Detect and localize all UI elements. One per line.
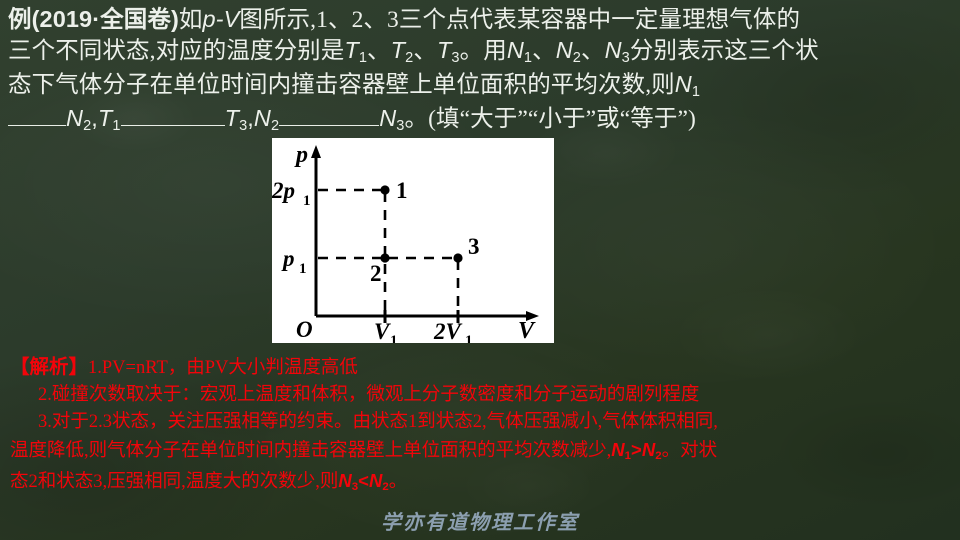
y-tick-label-p1: p 1 bbox=[281, 246, 307, 277]
symbol-N2-c-sub: 2 bbox=[83, 118, 91, 134]
x-tick-label-V1: V 1 bbox=[374, 319, 398, 343]
answer-blank-1[interactable] bbox=[8, 125, 66, 126]
analysis-line-2: 2.碰撞次数取决于：宏观上温度和体积，微观上分子数密度和分子运动的剧列程度 bbox=[10, 382, 956, 409]
axes bbox=[311, 145, 539, 321]
question-l1-pv: p-V bbox=[202, 6, 239, 32]
question-line-2: 三个不同状态,对应的温度分别是T1、T2、T3。用N1、N2、N3分别表示这三个… bbox=[8, 35, 952, 69]
question-l4-tail: 。(填“大于”“小于”或“等于”) bbox=[404, 106, 695, 132]
symbol-T1-sub: 1 bbox=[359, 50, 367, 66]
question-line-1: 例(2019·全国卷)如p-V图所示,1、2、3三个点代表某容器中一定量理想气体… bbox=[8, 4, 952, 35]
symbol-N1: N bbox=[507, 37, 524, 63]
analysis-l5-b: 。 bbox=[389, 472, 408, 492]
analysis-l3: 3.对于2.3状态，关注压强相等的约束。由状态1到状态2,气体压强减小,气体体积… bbox=[38, 412, 718, 432]
question-block: 例(2019·全国卷)如p-V图所示,1、2、3三个点代表某容器中一定量理想气体… bbox=[8, 4, 952, 137]
data-point-2 bbox=[380, 253, 389, 262]
data-point-3 bbox=[453, 253, 462, 262]
analysis-symbol-N2-sub: 2 bbox=[655, 450, 661, 462]
sep-1: 、 bbox=[367, 38, 391, 64]
analysis-l1: 1.PV=nRT，由PV大小判温度高低 bbox=[88, 358, 358, 378]
symbol-N3-b: N bbox=[379, 105, 396, 131]
question-l1-b: 图所示,1、2、3三个点代表某容器中一定量理想气体的 bbox=[239, 7, 800, 33]
analysis-l5-a: 态2和状态3,压强相同,温度大的次数少,则 bbox=[10, 472, 338, 492]
origin-label: O bbox=[296, 317, 313, 342]
data-point-label-1: 1 bbox=[396, 178, 408, 203]
analysis-tag: 【解析】 bbox=[10, 357, 88, 378]
analysis-symbol-N3-sub: 3 bbox=[352, 481, 358, 493]
question-label: 例 bbox=[8, 7, 32, 33]
analysis-line-1: 【解析】1.PV=nRT，由PV大小判温度高低 bbox=[10, 354, 956, 382]
symbol-T3-b-sub: 3 bbox=[239, 118, 247, 134]
symbol-T1-b-sub: 1 bbox=[112, 118, 120, 134]
analysis-symbol-N3: N bbox=[338, 470, 351, 491]
svg-text:2V: 2V bbox=[433, 319, 463, 343]
symbol-N1-sub: 1 bbox=[524, 50, 532, 66]
footer-watermark: 学亦有道物理工作室 bbox=[0, 506, 960, 535]
question-l3-a: 态下气体分子在单位时间内撞击容器壁上单位面积的平均次数,则 bbox=[8, 72, 675, 98]
symbol-N2-d: N bbox=[254, 105, 271, 131]
sep-2: 、 bbox=[413, 38, 437, 64]
analysis-symbol-N1-sub: 1 bbox=[625, 450, 631, 462]
analysis-block: 【解析】1.PV=nRT，由PV大小判温度高低 2.碰撞次数取决于：宏观上温度和… bbox=[10, 354, 956, 498]
symbol-T3-b: T bbox=[225, 105, 239, 131]
svg-text:2p: 2p bbox=[272, 178, 295, 203]
data-point-label-3: 3 bbox=[468, 234, 480, 259]
slide-canvas: 例(2019·全国卷)如p-V图所示,1、2、3三个点代表某容器中一定量理想气体… bbox=[0, 0, 960, 540]
symbol-T2-sub: 2 bbox=[405, 50, 413, 66]
answer-blank-3[interactable] bbox=[279, 125, 379, 126]
analysis-l4-b: 。对状 bbox=[662, 441, 718, 461]
question-l2-a: 三个不同状态,对应的温度分别是 bbox=[8, 38, 344, 64]
question-l2-c: 分别表示这三个状 bbox=[630, 38, 819, 64]
data-point-label-2: 2 bbox=[370, 261, 382, 286]
analysis-lt: < bbox=[358, 470, 369, 491]
symbol-N2: N bbox=[556, 37, 573, 63]
sep-4: 、 bbox=[581, 38, 605, 64]
svg-text:1: 1 bbox=[303, 193, 311, 209]
data-point-1 bbox=[380, 185, 389, 194]
y-tick-label-2p1: 2p 1 bbox=[272, 178, 311, 209]
symbol-T3: T bbox=[437, 37, 451, 63]
analysis-gt: > bbox=[631, 439, 642, 460]
svg-text:1: 1 bbox=[390, 333, 398, 343]
symbol-T2: T bbox=[391, 37, 405, 63]
symbol-N2-c: N bbox=[66, 105, 83, 131]
analysis-l2: 2.碰撞次数取决于：宏观上温度和体积，微观上分子数密度和分子运动的剧列程度 bbox=[38, 385, 699, 405]
analysis-line-3: 3.对于2.3状态，关注压强相等的约束。由状态1到状态2,气体压强减小,气体体积… bbox=[10, 409, 956, 436]
question-line-3: 态下气体分子在单位时间内撞击容器壁上单位面积的平均次数,则N1 bbox=[8, 69, 952, 103]
symbol-T1: T bbox=[344, 37, 358, 63]
question-l1-a: 如 bbox=[179, 7, 203, 33]
svg-text:1: 1 bbox=[465, 333, 473, 343]
comma-1: , bbox=[91, 105, 98, 131]
question-l2-b: 。用 bbox=[460, 38, 507, 64]
symbol-N1-b-sub: 1 bbox=[692, 84, 700, 100]
comma-2: , bbox=[247, 105, 254, 131]
y-axis-label: p bbox=[294, 142, 308, 168]
data-points bbox=[380, 185, 462, 262]
question-line-4: N2,T1T3,N2N3。(填“大于”“小于”或“等于”) bbox=[8, 103, 952, 137]
svg-text:V: V bbox=[374, 319, 391, 343]
question-source: (2019·全国卷) bbox=[32, 6, 179, 32]
symbol-T3-sub: 3 bbox=[451, 50, 459, 66]
symbol-N3: N bbox=[605, 37, 622, 63]
answer-blank-2[interactable] bbox=[121, 125, 225, 126]
sep-3: 、 bbox=[532, 38, 556, 64]
symbol-N3-b-sub: 3 bbox=[396, 118, 404, 134]
analysis-symbol-N2-b-sub: 2 bbox=[382, 481, 388, 493]
analysis-l4-a: 温度降低,则气体分子在单位时间内撞击容器壁上单位面积的平均次数减少, bbox=[10, 441, 611, 461]
analysis-symbol-N2: N bbox=[642, 439, 655, 460]
svg-text:1: 1 bbox=[299, 261, 307, 277]
guide-lines bbox=[318, 190, 458, 314]
pv-diagram-panel: p V O 2p 1 p 1 V 1 2V 1 1 2 bbox=[272, 138, 554, 343]
symbol-N2-d-sub: 2 bbox=[271, 118, 279, 134]
symbol-T1-b: T bbox=[98, 105, 112, 131]
symbol-N2-sub: 2 bbox=[573, 50, 581, 66]
analysis-line-5: 态2和状态3,压强相同,温度大的次数少,则N3<N2。 bbox=[10, 467, 956, 498]
svg-text:p: p bbox=[281, 246, 295, 271]
symbol-N3-sub: 3 bbox=[622, 50, 630, 66]
x-tick-label-2V1: 2V 1 bbox=[433, 319, 473, 343]
analysis-symbol-N2-b: N bbox=[369, 470, 382, 491]
analysis-line-4: 温度降低,则气体分子在单位时间内撞击容器壁上单位面积的平均次数减少,N1>N2。… bbox=[10, 436, 956, 467]
analysis-symbol-N1: N bbox=[611, 439, 624, 460]
symbol-N1-b: N bbox=[675, 71, 692, 97]
x-axis-label: V bbox=[518, 318, 536, 343]
pv-diagram-svg: p V O 2p 1 p 1 V 1 2V 1 1 2 bbox=[272, 138, 554, 343]
